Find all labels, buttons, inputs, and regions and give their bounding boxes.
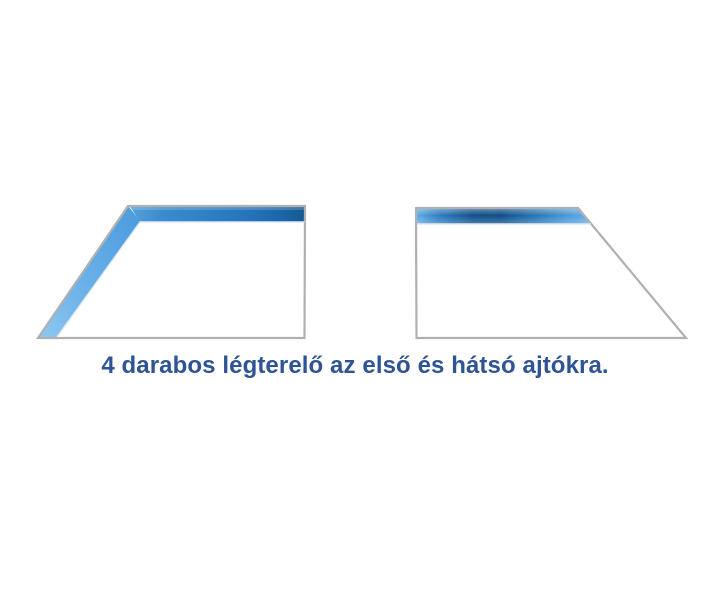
rear-door-wind-deflector: [416, 208, 686, 338]
front-deflector-body: [38, 206, 305, 338]
rear-deflector-band-gloss: [417, 209, 591, 225]
wind-deflector-pair-illustration: [0, 0, 710, 350]
front-door-wind-deflector: [38, 206, 305, 338]
product-caption: 4 darabos légterelő az első és hátsó ajt…: [0, 352, 710, 380]
rear-deflector-body: [416, 208, 686, 338]
product-image-canvas: 4 darabos légterelő az első és hátsó ajt…: [0, 0, 710, 613]
